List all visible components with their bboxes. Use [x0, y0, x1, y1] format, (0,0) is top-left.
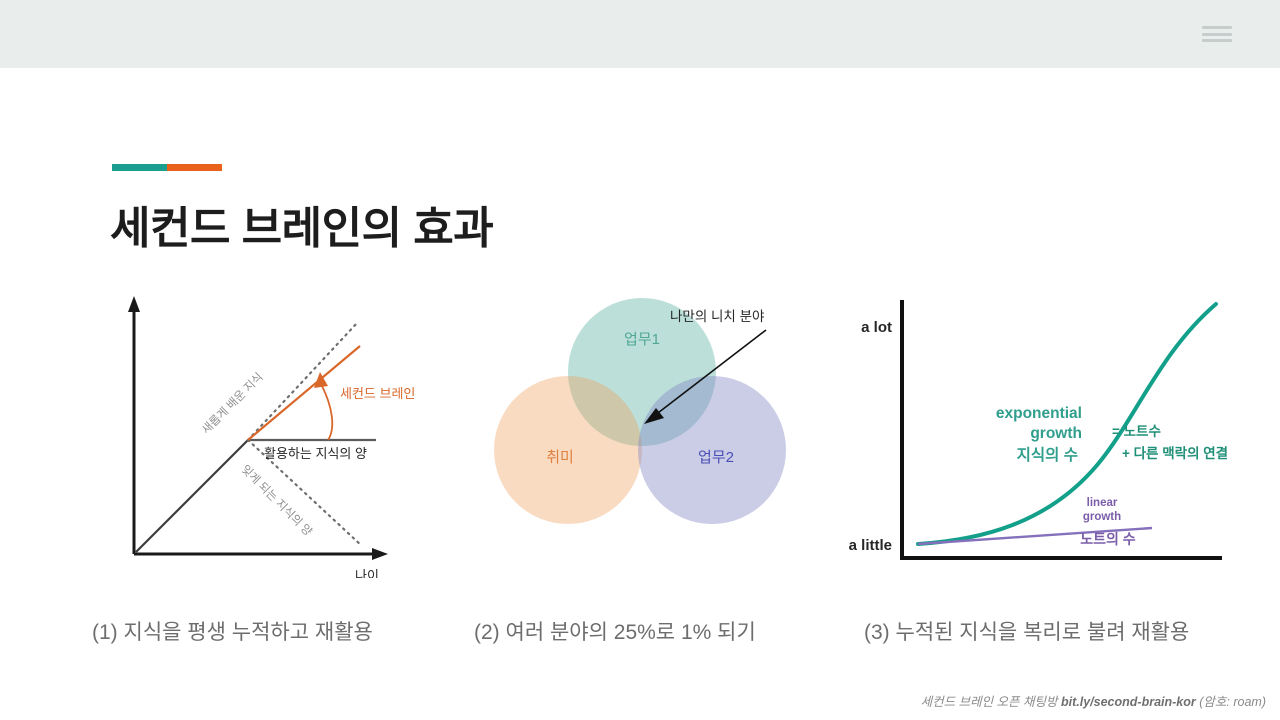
diagram-exponential-growth: a lot a little exponential growth 지식의 수 …: [830, 288, 1260, 578]
caption-three: (3) 누적된 지식을 복리로 불려 재활용: [864, 616, 1189, 646]
label-linear-growth-1: linear: [1087, 497, 1118, 509]
venn-label-hobby: 취미: [546, 449, 574, 466]
label-linear-growth-2: growth: [1083, 511, 1121, 523]
chart3-ylabel-top: a lot: [861, 319, 892, 336]
x-axis: [134, 548, 388, 560]
footer-credit: 세컨드 브레인 오픈 채팅방 bit.ly/second-brain-kor (…: [921, 691, 1266, 710]
label-exponential-growth-1: exponential: [996, 405, 1082, 422]
label-exponential-growth-3: 지식의 수: [1017, 446, 1078, 464]
hamburger-line: [1202, 26, 1232, 29]
curve-exponential-growth: [918, 304, 1216, 544]
hamburger-menu-icon[interactable]: [1202, 26, 1232, 42]
accent-segment-orange: [167, 164, 222, 171]
diagram-lifetime-knowledge: 새롭게 배운 지식 잊게 되는 지식의 양 활용하는 지식의 양 세컨드 브레인…: [90, 288, 430, 578]
label-x-axis-age: 나이: [355, 568, 379, 578]
label-used-knowledge: 활용하는 지식의 양: [264, 446, 367, 461]
hamburger-line: [1202, 33, 1232, 36]
venn-annotation-label: 나만의 니치 분야: [670, 309, 764, 324]
diagram-venn-niche: 업무1 취미 업무2 나만의 니치 분야: [470, 288, 810, 578]
title-accent-bar: [112, 164, 222, 171]
venn-label-work1: 업무1: [624, 331, 660, 348]
hamburger-line: [1202, 39, 1232, 42]
caption-two: (2) 여러 분야의 25%로 1% 되기: [474, 616, 756, 646]
caption-one: (1) 지식을 평생 누적하고 재활용: [92, 616, 373, 646]
line-knowledge-rising: [136, 440, 248, 552]
chart3-ylabel-bottom: a little: [849, 537, 892, 554]
label-linear-growth-3: 노트의 수: [1080, 531, 1136, 547]
line-learned-knowledge-dotted: [248, 322, 358, 440]
footer-prefix: 세컨드 브레인 오픈 채팅방: [921, 695, 1061, 709]
annotation-note-context: + 다른 맥락의 연결: [1122, 445, 1228, 461]
label-exponential-growth-2: growth: [1030, 425, 1082, 442]
accent-segment-teal: [112, 164, 167, 171]
top-bar: [0, 0, 1280, 68]
footer-link[interactable]: bit.ly/second-brain-kor: [1061, 695, 1196, 709]
annotation-note-count: = 노트수: [1112, 424, 1161, 439]
label-learned-knowledge: 새롭게 배운 지식: [199, 370, 265, 436]
footer-suffix: (암호: roam): [1196, 695, 1266, 709]
y-axis: [128, 296, 140, 554]
label-second-brain: 세컨드 브레인: [340, 386, 415, 401]
page-title: 세컨드 브레인의 효과: [110, 192, 493, 256]
label-forgotten-knowledge: 잊게 되는 지식의 양: [239, 463, 315, 539]
second-brain-arrow: [322, 386, 332, 440]
venn-label-work2: 업무2: [698, 449, 734, 466]
